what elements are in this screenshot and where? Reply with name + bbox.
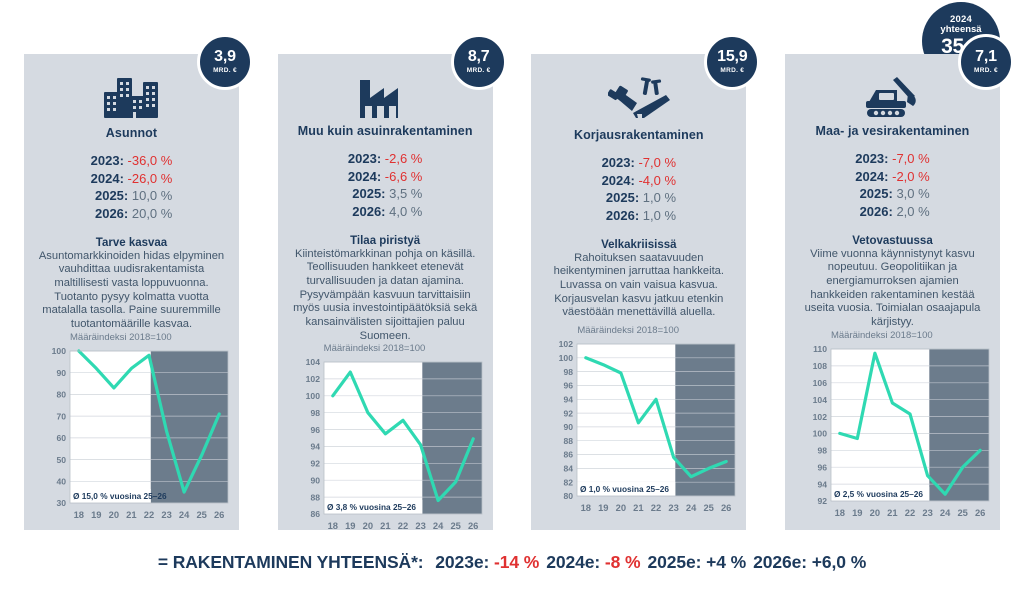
footer-year-label: 2023e: xyxy=(435,552,489,572)
year-row: 2025: 3,0 % xyxy=(855,185,929,203)
x-tick-label: 22 xyxy=(144,509,154,520)
chart-container: Määräindeksi 2018=100 929496981001021041… xyxy=(795,330,990,525)
x-tick-label: 21 xyxy=(887,507,897,518)
year-row: 2025: 3,5 % xyxy=(348,185,422,203)
description-text: Asuntomarkkinoiden hidas elpyminen vauhd… xyxy=(34,250,229,332)
year-value: -2,0 % xyxy=(892,169,930,184)
footer-year-label: 2026e: xyxy=(753,552,807,572)
year-row: 2026: 2,0 % xyxy=(855,203,929,221)
sector-card-maa-ja-vesirakentaminen: 7,1 MRD. € Maa- ja vesirakentaminen 2023… xyxy=(785,54,1000,530)
x-tick-label: 19 xyxy=(598,502,608,513)
value-badge: 15,9 MRD. € xyxy=(704,34,760,90)
year-value: -36,0 % xyxy=(128,153,173,168)
x-tick-label: 24 xyxy=(940,507,951,518)
year-value-list: 2023: -36,0 % 2024: -26,0 % 2025: 10,0 %… xyxy=(91,152,173,223)
year-row: 2023: -36,0 % xyxy=(91,152,173,170)
value-badge-amount: 15,9 xyxy=(717,49,747,65)
y-tick-label: 106 xyxy=(813,378,828,388)
footer-year-value: -14 % xyxy=(494,552,539,572)
year-label: 2023: xyxy=(348,151,381,166)
value-badge-unit: MRD. € xyxy=(467,68,491,75)
value-badge-amount: 7,1 xyxy=(975,49,997,65)
y-tick-label: 86 xyxy=(564,450,574,460)
y-tick-label: 102 xyxy=(559,339,574,349)
card-row: 3,9 MRD. € xyxy=(0,54,1024,534)
chart-caption: Määräindeksi 2018=100 xyxy=(577,325,734,336)
y-tick-label: 88 xyxy=(310,493,320,503)
footer-summary: = RAKENTAMINEN YHTEENSÄ*: 2023e: -14 %20… xyxy=(0,552,1024,573)
y-tick-label: 88 xyxy=(564,436,574,446)
year-value: -6,6 % xyxy=(385,169,423,184)
y-tick-label: 104 xyxy=(305,357,320,367)
card-title: Asunnot xyxy=(106,126,157,140)
value-badge-amount: 8,7 xyxy=(468,49,490,65)
value-badge: 3,9 MRD. € xyxy=(197,34,253,90)
year-label: 2023: xyxy=(602,155,635,170)
x-tick-label: 26 xyxy=(975,507,985,518)
chart-annotation: Ø 2,5 % vuosina 25–26 xyxy=(834,489,923,499)
y-tick-label: 92 xyxy=(310,459,320,469)
x-tick-label: 23 xyxy=(161,509,171,520)
footer-year-label: 2024e: xyxy=(546,552,600,572)
year-label: 2026: xyxy=(95,206,128,221)
x-tick-label: 20 xyxy=(616,502,626,513)
infographic-page: 2024 yhteensä 35,7 MRD. € 3,9 MRD. € xyxy=(0,0,1024,591)
x-tick-label: 19 xyxy=(91,509,101,520)
x-tick-label: 18 xyxy=(327,520,337,531)
quantity-index-chart: 30405060708090100Ø 15,0 % vuosina 25–261… xyxy=(36,345,232,523)
year-value: -7,0 % xyxy=(892,151,930,166)
sector-card-korjausrakentaminen: 15,9 MRD. € Korjausrakentaminen 202 xyxy=(531,54,746,530)
year-row: 2026: 20,0 % xyxy=(91,205,173,223)
x-tick-label: 26 xyxy=(214,509,224,520)
x-tick-label: 21 xyxy=(633,502,643,513)
y-tick-label: 90 xyxy=(310,476,320,486)
year-row: 2026: 1,0 % xyxy=(602,207,676,225)
x-tick-label: 24 xyxy=(433,520,444,531)
footer-prefix: = RAKENTAMINEN YHTEENSÄ*: xyxy=(158,552,424,572)
y-tick-label: 94 xyxy=(817,479,827,489)
year-value: 3,5 % xyxy=(389,186,422,201)
sector-card-asunnot: 3,9 MRD. € xyxy=(24,54,239,530)
y-tick-label: 104 xyxy=(813,395,828,405)
year-value-list: 2023: -2,6 % 2024: -6,6 % 2025: 3,5 % 20… xyxy=(348,150,422,221)
x-tick-label: 25 xyxy=(704,502,714,513)
year-row: 2025: 10,0 % xyxy=(91,187,173,205)
year-value: 3,0 % xyxy=(896,186,929,201)
value-badge-amount: 3,9 xyxy=(214,49,236,65)
y-tick-label: 100 xyxy=(305,391,320,401)
year-value: 10,0 % xyxy=(132,188,172,203)
description-text: Viime vuonna käynnistynyt kasvu nopeutuu… xyxy=(795,248,990,330)
apartment-buildings-icon xyxy=(103,76,161,120)
y-tick-label: 80 xyxy=(564,491,574,501)
footer-year-value: -8 % xyxy=(605,552,641,572)
x-tick-label: 18 xyxy=(74,509,84,520)
chart-container: Määräindeksi 2018=100 808284868890929496… xyxy=(541,325,736,520)
excavator-icon xyxy=(863,76,921,118)
y-tick-label: 86 xyxy=(310,509,320,519)
description-heading: Tilaa piristyä xyxy=(350,235,420,247)
sector-card-muu-kuin-asuinrakentaminen: 8,7 MRD. € Muu kuin asuinrakentaminen 20… xyxy=(278,54,493,530)
description-heading: Velkakriisissä xyxy=(601,239,676,251)
year-value: -7,0 % xyxy=(638,155,676,170)
x-tick-label: 21 xyxy=(380,520,390,531)
x-tick-label: 22 xyxy=(905,507,915,518)
x-tick-label: 24 xyxy=(686,502,697,513)
year-label: 2025: xyxy=(352,186,385,201)
chart-annotation: Ø 3,8 % vuosina 25–26 xyxy=(327,502,416,512)
description-heading: Vetovastuussa xyxy=(852,235,933,247)
total-badge-label: yhteensä xyxy=(940,25,981,35)
year-value: 4,0 % xyxy=(389,204,422,219)
x-tick-label: 23 xyxy=(415,520,425,531)
chart-caption: Määräindeksi 2018=100 xyxy=(831,330,988,341)
year-row: 2024: -6,6 % xyxy=(348,168,422,186)
x-tick-label: 20 xyxy=(362,520,372,531)
value-badge: 7,1 MRD. € xyxy=(958,34,1014,90)
value-badge: 8,7 MRD. € xyxy=(451,34,507,90)
quantity-index-chart: 86889092949698100102104Ø 3,8 % vuosina 2… xyxy=(290,356,486,534)
x-tick-label: 18 xyxy=(581,502,591,513)
year-row: 2024: -2,0 % xyxy=(855,168,929,186)
description-text: Kiinteistömarkkinan pohja on käsillä. Te… xyxy=(288,248,483,344)
chart-caption: Määräindeksi 2018=100 xyxy=(70,332,227,343)
year-label: 2024: xyxy=(91,171,124,186)
description-text: Rahoituksen saatavuuden heikentyminen ja… xyxy=(541,252,736,320)
year-row: 2023: -7,0 % xyxy=(602,154,676,172)
y-tick-label: 80 xyxy=(56,389,66,399)
y-tick-label: 40 xyxy=(56,476,66,486)
y-tick-label: 102 xyxy=(813,411,828,421)
year-value: 2,0 % xyxy=(896,204,929,219)
footer-items: 2023e: -14 %2024e: -8 %2025e: +4 %2026e:… xyxy=(428,552,866,572)
year-label: 2024: xyxy=(348,169,381,184)
year-label: 2025: xyxy=(606,190,639,205)
footer-year-value: +4 % xyxy=(706,552,746,572)
year-label: 2026: xyxy=(606,208,639,223)
y-tick-label: 108 xyxy=(813,361,828,371)
y-tick-label: 102 xyxy=(305,374,320,384)
paintbrush-saw-nails-icon xyxy=(608,76,670,122)
y-tick-label: 50 xyxy=(56,454,66,464)
year-label: 2024: xyxy=(855,169,888,184)
x-tick-label: 25 xyxy=(450,520,460,531)
year-label: 2025: xyxy=(95,188,128,203)
card-title: Maa- ja vesirakentaminen xyxy=(816,124,970,138)
year-value: 1,0 % xyxy=(643,208,676,223)
description-heading: Tarve kasvaa xyxy=(96,237,167,249)
y-tick-label: 100 xyxy=(813,428,828,438)
x-tick-label: 24 xyxy=(179,509,190,520)
value-badge-unit: MRD. € xyxy=(974,68,998,75)
year-row: 2023: -2,6 % xyxy=(348,150,422,168)
value-badge-unit: MRD. € xyxy=(720,68,744,75)
x-tick-label: 25 xyxy=(196,509,206,520)
year-value: -26,0 % xyxy=(128,171,173,186)
year-row: 2024: -26,0 % xyxy=(91,170,173,188)
y-tick-label: 98 xyxy=(564,367,574,377)
year-row: 2023: -7,0 % xyxy=(855,150,929,168)
forecast-band xyxy=(676,344,736,496)
x-tick-label: 23 xyxy=(922,507,932,518)
quantity-index-chart: 92949698100102104106108110Ø 2,5 % vuosin… xyxy=(797,343,993,521)
chart-container: Määräindeksi 2018=100 30405060708090100Ø… xyxy=(34,332,229,527)
x-tick-label: 22 xyxy=(397,520,407,531)
x-tick-label: 26 xyxy=(721,502,731,513)
year-value-list: 2023: -7,0 % 2024: -2,0 % 2025: 3,0 % 20… xyxy=(855,150,929,221)
y-tick-label: 30 xyxy=(56,498,66,508)
year-label: 2024: xyxy=(602,173,635,188)
year-label: 2025: xyxy=(860,186,893,201)
y-tick-label: 98 xyxy=(310,408,320,418)
chart-caption: Määräindeksi 2018=100 xyxy=(324,343,481,354)
y-tick-label: 100 xyxy=(52,346,67,356)
y-tick-label: 100 xyxy=(559,353,574,363)
x-tick-label: 26 xyxy=(468,520,478,531)
y-tick-label: 60 xyxy=(56,433,66,443)
y-tick-label: 90 xyxy=(564,422,574,432)
year-label: 2023: xyxy=(855,151,888,166)
y-tick-label: 96 xyxy=(310,425,320,435)
year-row: 2026: 4,0 % xyxy=(348,203,422,221)
y-tick-label: 94 xyxy=(310,442,320,452)
y-tick-label: 92 xyxy=(817,496,827,506)
year-row: 2024: -4,0 % xyxy=(602,172,676,190)
y-tick-label: 94 xyxy=(564,395,574,405)
x-tick-label: 19 xyxy=(852,507,862,518)
year-value: 20,0 % xyxy=(132,206,172,221)
y-tick-label: 110 xyxy=(813,344,827,354)
footer-year-label: 2025e: xyxy=(647,552,701,572)
x-tick-label: 25 xyxy=(957,507,967,518)
year-value: 1,0 % xyxy=(643,190,676,205)
chart-annotation: Ø 1,0 % vuosina 25–26 xyxy=(580,484,669,494)
factory-icon xyxy=(358,76,412,118)
year-value: -2,6 % xyxy=(385,151,423,166)
quantity-index-chart: 80828486889092949698100102Ø 1,0 % vuosin… xyxy=(543,338,739,516)
card-title: Korjausrakentaminen xyxy=(574,128,704,142)
card-title: Muu kuin asuinrakentaminen xyxy=(298,124,473,138)
x-tick-label: 23 xyxy=(669,502,679,513)
year-label: 2026: xyxy=(352,204,385,219)
year-label: 2026: xyxy=(860,204,893,219)
forecast-band xyxy=(929,349,989,501)
y-tick-label: 92 xyxy=(564,408,574,418)
x-tick-label: 21 xyxy=(126,509,136,520)
chart-container: Määräindeksi 2018=100 868890929496981001… xyxy=(288,343,483,538)
y-tick-label: 82 xyxy=(564,477,574,487)
footer-year-value: +6,0 % xyxy=(812,552,866,572)
value-badge-unit: MRD. € xyxy=(213,68,237,75)
y-tick-label: 84 xyxy=(564,464,574,474)
x-tick-label: 20 xyxy=(870,507,880,518)
x-tick-label: 22 xyxy=(651,502,661,513)
y-tick-label: 96 xyxy=(817,462,827,472)
x-tick-label: 20 xyxy=(109,509,119,520)
year-label: 2023: xyxy=(91,153,124,168)
year-row: 2025: 1,0 % xyxy=(602,189,676,207)
chart-annotation: Ø 15,0 % vuosina 25–26 xyxy=(73,491,167,501)
y-tick-label: 70 xyxy=(56,411,66,421)
y-tick-label: 98 xyxy=(817,445,827,455)
year-value-list: 2023: -7,0 % 2024: -4,0 % 2025: 1,0 % 20… xyxy=(602,154,676,225)
x-tick-label: 18 xyxy=(835,507,845,518)
x-tick-label: 19 xyxy=(345,520,355,531)
year-value: -4,0 % xyxy=(638,173,676,188)
y-tick-label: 96 xyxy=(564,381,574,391)
y-tick-label: 90 xyxy=(56,368,66,378)
